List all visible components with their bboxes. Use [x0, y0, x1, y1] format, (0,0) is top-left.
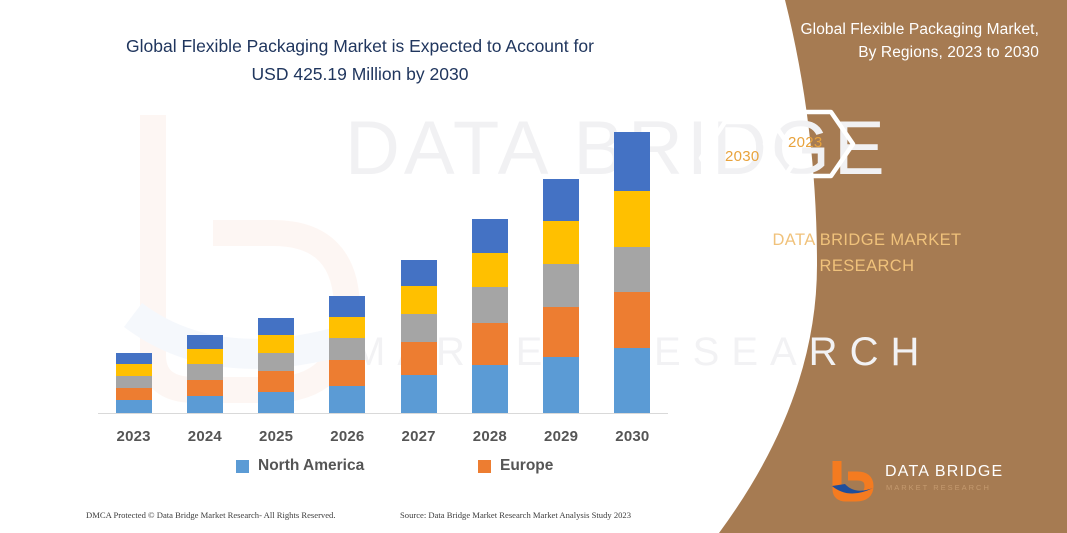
hexagon-2023-label: 2023 — [788, 134, 823, 151]
bar-2028[interactable] — [472, 219, 508, 414]
bar-segment-2029-s1 — [543, 357, 579, 414]
bar-segment-2030-s5 — [614, 132, 650, 191]
bar-segment-2026-s3 — [329, 338, 365, 360]
bar-segment-2025-s2 — [258, 371, 294, 391]
bar-2027[interactable] — [401, 260, 437, 414]
bar-segment-2027-s2 — [401, 342, 437, 375]
bar-segment-2028-s2 — [472, 323, 508, 366]
footer: DMCA Protected © Data Bridge Market Rese… — [0, 508, 720, 530]
bar-segment-2024-s4 — [187, 349, 223, 364]
x-axis-labels: 20232024202520262027202820292030 — [98, 428, 668, 454]
bar-2024[interactable] — [187, 335, 223, 414]
bar-2025[interactable] — [258, 318, 294, 414]
x-axis-label-2030: 2030 — [597, 428, 667, 445]
bar-segment-2025-s3 — [258, 353, 294, 371]
bar-segment-2026-s5 — [329, 296, 365, 316]
chart-legend: North AmericaEurope — [98, 455, 668, 481]
bar-segment-2023-s4 — [116, 364, 152, 375]
legend-item-europe[interactable]: Europe — [478, 457, 553, 475]
legend-label: Europe — [500, 457, 553, 475]
bar-segment-2025-s4 — [258, 335, 294, 353]
brand-panel-content: Global Flexible Packaging Market, By Reg… — [667, 0, 1067, 533]
bar-segment-2024-s2 — [187, 380, 223, 396]
bar-segment-2026-s4 — [329, 317, 365, 338]
legend-swatch-icon — [236, 460, 249, 473]
x-axis-label-2026: 2026 — [312, 428, 382, 445]
bar-segment-2026-s1 — [329, 386, 365, 414]
legend-item-north-america[interactable]: North America — [236, 457, 364, 475]
brand-name: DATA BRIDGE MARKET RESEARCH — [697, 228, 1037, 279]
bar-segment-2024-s1 — [187, 396, 223, 414]
bar-segment-2023-s3 — [116, 376, 152, 388]
hexagon-2030-label: 2030 — [725, 148, 760, 165]
bar-segment-2023-s2 — [116, 388, 152, 400]
bar-segment-2029-s3 — [543, 264, 579, 307]
bar-segment-2025-s1 — [258, 392, 294, 414]
data-bridge-logo-icon — [829, 459, 877, 503]
panel-title: Global Flexible Packaging Market, By Reg… — [719, 18, 1039, 65]
x-axis-label-2025: 2025 — [241, 428, 311, 445]
bar-segment-2023-s1 — [116, 400, 152, 414]
bar-segment-2027-s4 — [401, 286, 437, 313]
bar-segment-2030-s3 — [614, 247, 650, 293]
bar-segment-2026-s2 — [329, 360, 365, 385]
bar-2026[interactable] — [329, 296, 365, 414]
footer-source: Source: Data Bridge Market Research Mark… — [400, 510, 631, 520]
legend-swatch-icon — [478, 460, 491, 473]
footer-copyright: DMCA Protected © Data Bridge Market Rese… — [86, 510, 336, 520]
bar-segment-2024-s3 — [187, 364, 223, 379]
x-axis-label-2023: 2023 — [99, 428, 169, 445]
brand-name-line2: RESEARCH — [697, 254, 1037, 280]
x-axis-label-2028: 2028 — [455, 428, 525, 445]
logo-subtitle: MARKET RESEARCH — [886, 483, 991, 492]
bar-segment-2027-s1 — [401, 375, 437, 414]
bar-segment-2029-s5 — [543, 179, 579, 222]
x-axis-label-2027: 2027 — [384, 428, 454, 445]
bar-segment-2030-s1 — [614, 348, 650, 414]
bar-2030[interactable] — [614, 132, 650, 414]
bar-segment-2027-s3 — [401, 314, 437, 342]
bar-segment-2030-s2 — [614, 292, 650, 348]
chart-title-line2: USD 425.19 Million by 2030 — [60, 60, 660, 88]
x-axis-label-2024: 2024 — [170, 428, 240, 445]
company-logo: DATA BRIDGE MARKET RESEARCH — [829, 457, 1039, 505]
bar-segment-2028-s3 — [472, 287, 508, 322]
logo-wordmark: DATA BRIDGE — [885, 463, 1003, 481]
chart-area: Global Flexible Packaging Market is Expe… — [0, 0, 720, 533]
x-axis-line — [98, 413, 668, 414]
bar-segment-2028-s1 — [472, 365, 508, 414]
bar-segment-2024-s5 — [187, 335, 223, 349]
bar-segment-2025-s5 — [258, 318, 294, 335]
panel-title-line1: Global Flexible Packaging Market, — [801, 21, 1040, 38]
chart-title: Global Flexible Packaging Market is Expe… — [60, 32, 660, 88]
bar-segment-2030-s4 — [614, 191, 650, 247]
bar-2023[interactable] — [116, 353, 152, 414]
bar-2029[interactable] — [543, 179, 579, 414]
brand-name-line1: DATA BRIDGE MARKET — [772, 231, 961, 249]
bar-segment-2027-s5 — [401, 260, 437, 286]
bar-segment-2028-s5 — [472, 219, 508, 252]
stacked-bar-chart — [98, 120, 668, 414]
panel-title-line2: By Regions, 2023 to 2030 — [719, 41, 1039, 64]
bar-segment-2029-s4 — [543, 221, 579, 264]
bar-segment-2029-s2 — [543, 307, 579, 358]
x-axis-label-2029: 2029 — [526, 428, 596, 445]
bar-segment-2028-s4 — [472, 253, 508, 287]
chart-title-line1: Global Flexible Packaging Market is Expe… — [126, 36, 594, 56]
legend-label: North America — [258, 457, 364, 475]
bar-segment-2023-s5 — [116, 353, 152, 364]
